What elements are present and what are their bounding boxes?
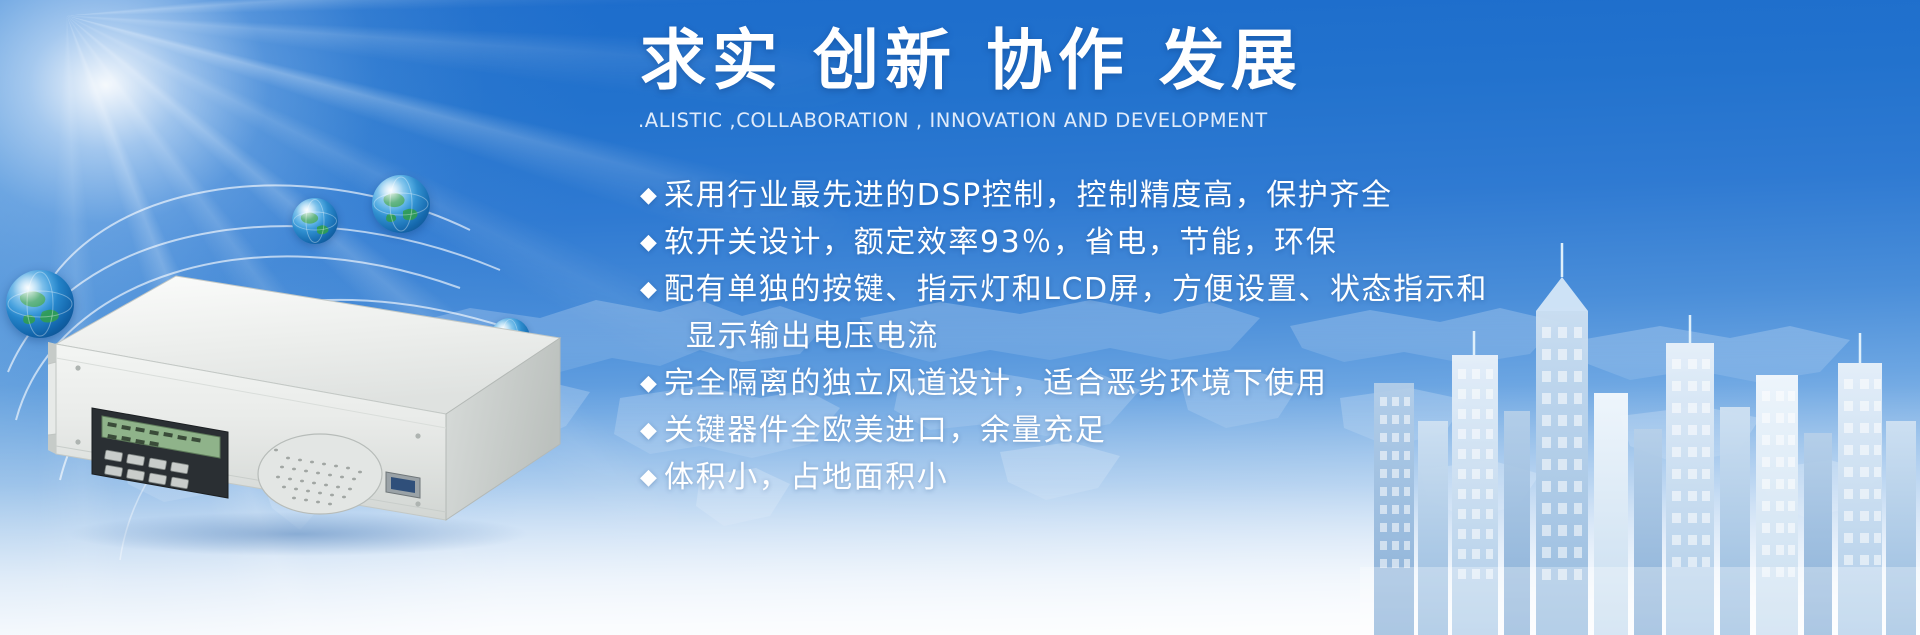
feature-item: ◆配有单独的按键、指示灯和LCD屏，方便设置、状态指示和 — [640, 266, 1770, 313]
feature-item-label: 采用行业最先进的DSP控制，控制精度高，保护齐全 — [664, 172, 1393, 219]
banner-content: 求实 创新 协作 发展 .ALISTIC ,COLLABORATION , IN… — [0, 0, 1920, 635]
feature-item-label: 显示输出电压电流 — [664, 313, 939, 360]
feature-item-label: 软开关设计，额定效率93％，省电，节能，环保 — [664, 219, 1337, 266]
feature-item: ◆软开关设计，额定效率93％，省电，节能，环保 — [640, 219, 1770, 266]
page-title: 求实 创新 协作 发展 — [640, 24, 1303, 98]
feature-item-label: 完全隔离的独立风道设计，适合恶劣环境下使用 — [664, 360, 1328, 407]
feature-item: ◆显示输出电压电流 — [640, 313, 1770, 360]
feature-item: ◆采用行业最先进的DSP控制，控制精度高，保护齐全 — [640, 172, 1770, 219]
feature-item-label: 配有单独的按键、指示灯和LCD屏，方便设置、状态指示和 — [664, 266, 1488, 313]
diamond-bullet-icon: ◆ — [640, 219, 664, 266]
diamond-bullet-icon: ◆ — [640, 266, 664, 313]
feature-item-label: 关键器件全欧美进口，余量充足 — [664, 407, 1106, 454]
feature-item: ◆体积小，占地面积小 — [640, 454, 1770, 501]
feature-list: ◆采用行业最先进的DSP控制，控制精度高，保护齐全◆软开关设计，额定效率93％，… — [640, 172, 1770, 501]
diamond-bullet-icon: ◆ — [640, 360, 664, 407]
feature-item: ◆完全隔离的独立风道设计，适合恶劣环境下使用 — [640, 360, 1770, 407]
promo-banner: 求实 创新 协作 发展 .ALISTIC ,COLLABORATION , IN… — [0, 0, 1920, 635]
diamond-bullet-icon: ◆ — [640, 172, 664, 219]
feature-item: ◆关键器件全欧美进口，余量充足 — [640, 407, 1770, 454]
diamond-bullet-icon: ◆ — [640, 454, 664, 501]
diamond-bullet-icon: ◆ — [640, 407, 664, 454]
subtitle-english: .ALISTIC ,COLLABORATION , INNOVATION AND… — [638, 109, 1268, 132]
feature-item-label: 体积小，占地面积小 — [664, 454, 948, 501]
